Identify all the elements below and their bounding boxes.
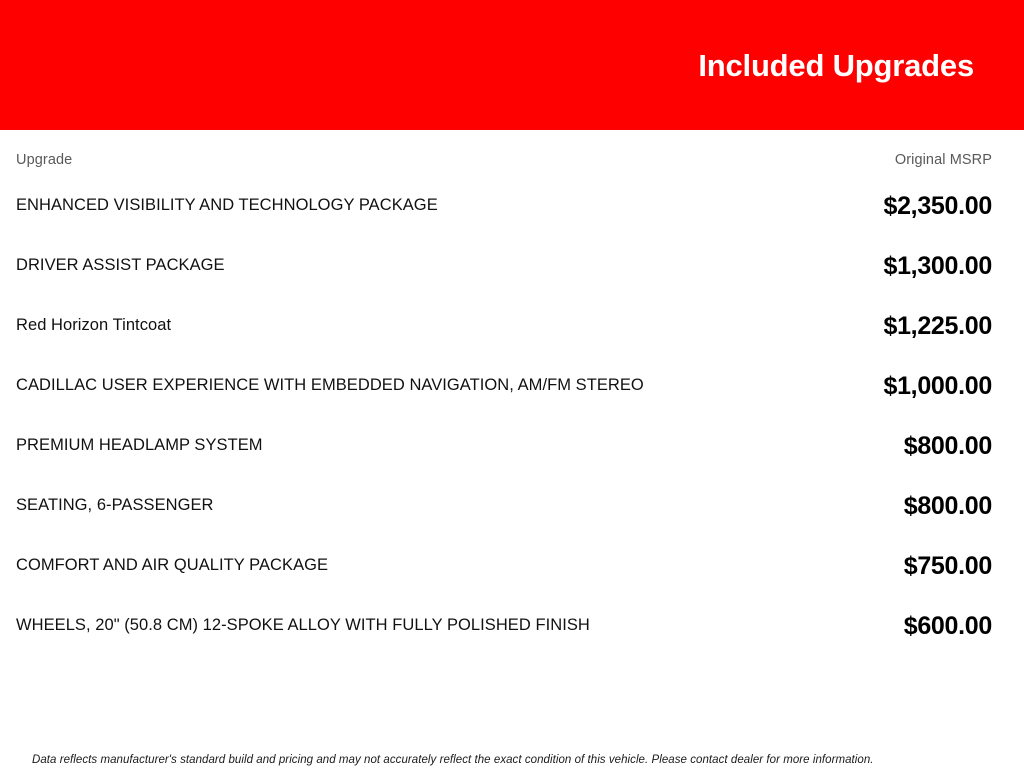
upgrade-price: $600.00	[880, 612, 992, 641]
table-row: PREMIUM HEADLAMP SYSTEM$800.00	[16, 416, 992, 476]
table-row: ENHANCED VISIBILITY AND TECHNOLOGY PACKA…	[16, 176, 992, 236]
page-header-banner: Included Upgrades	[0, 0, 1024, 130]
included-upgrades-page: Included Upgrades Upgrade Original MSRP …	[0, 0, 1024, 768]
upgrades-table: Upgrade Original MSRP ENHANCED VISIBILIT…	[0, 130, 1024, 768]
table-row: WHEELS, 20" (50.8 CM) 12-SPOKE ALLOY WIT…	[16, 596, 992, 656]
page-title: Included Upgrades	[698, 50, 974, 81]
upgrade-price: $800.00	[880, 432, 992, 461]
table-row: DRIVER ASSIST PACKAGE$1,300.00	[16, 236, 992, 296]
upgrade-price: $750.00	[880, 552, 992, 581]
upgrade-name: DRIVER ASSIST PACKAGE	[16, 254, 656, 277]
upgrade-price: $1,300.00	[859, 252, 992, 281]
layout-spacer	[16, 656, 992, 743]
upgrade-name: PREMIUM HEADLAMP SYSTEM	[16, 434, 656, 457]
upgrade-price: $800.00	[880, 492, 992, 521]
disclaimer-footnote: Data reflects manufacturer's standard bu…	[16, 743, 992, 768]
table-body: ENHANCED VISIBILITY AND TECHNOLOGY PACKA…	[16, 176, 992, 656]
upgrade-name: SEATING, 6-PASSENGER	[16, 494, 656, 517]
upgrade-price: $1,225.00	[859, 312, 992, 341]
table-row: SEATING, 6-PASSENGER$800.00	[16, 476, 992, 536]
upgrade-name: COMFORT AND AIR QUALITY PACKAGE	[16, 554, 656, 577]
table-row: Red Horizon Tintcoat$1,225.00	[16, 296, 992, 356]
upgrade-name: ENHANCED VISIBILITY AND TECHNOLOGY PACKA…	[16, 194, 656, 217]
column-header-original-msrp: Original MSRP	[895, 152, 992, 168]
table-row: COMFORT AND AIR QUALITY PACKAGE$750.00	[16, 536, 992, 596]
table-row: CADILLAC USER EXPERIENCE WITH EMBEDDED N…	[16, 356, 992, 416]
upgrade-price: $2,350.00	[859, 192, 992, 221]
column-header-upgrade: Upgrade	[16, 152, 72, 168]
upgrade-price: $1,000.00	[859, 372, 992, 401]
table-column-headers: Upgrade Original MSRP	[16, 130, 992, 176]
upgrade-name: WHEELS, 20" (50.8 CM) 12-SPOKE ALLOY WIT…	[16, 614, 656, 637]
upgrade-name: CADILLAC USER EXPERIENCE WITH EMBEDDED N…	[16, 374, 656, 397]
upgrade-name: Red Horizon Tintcoat	[16, 314, 656, 337]
